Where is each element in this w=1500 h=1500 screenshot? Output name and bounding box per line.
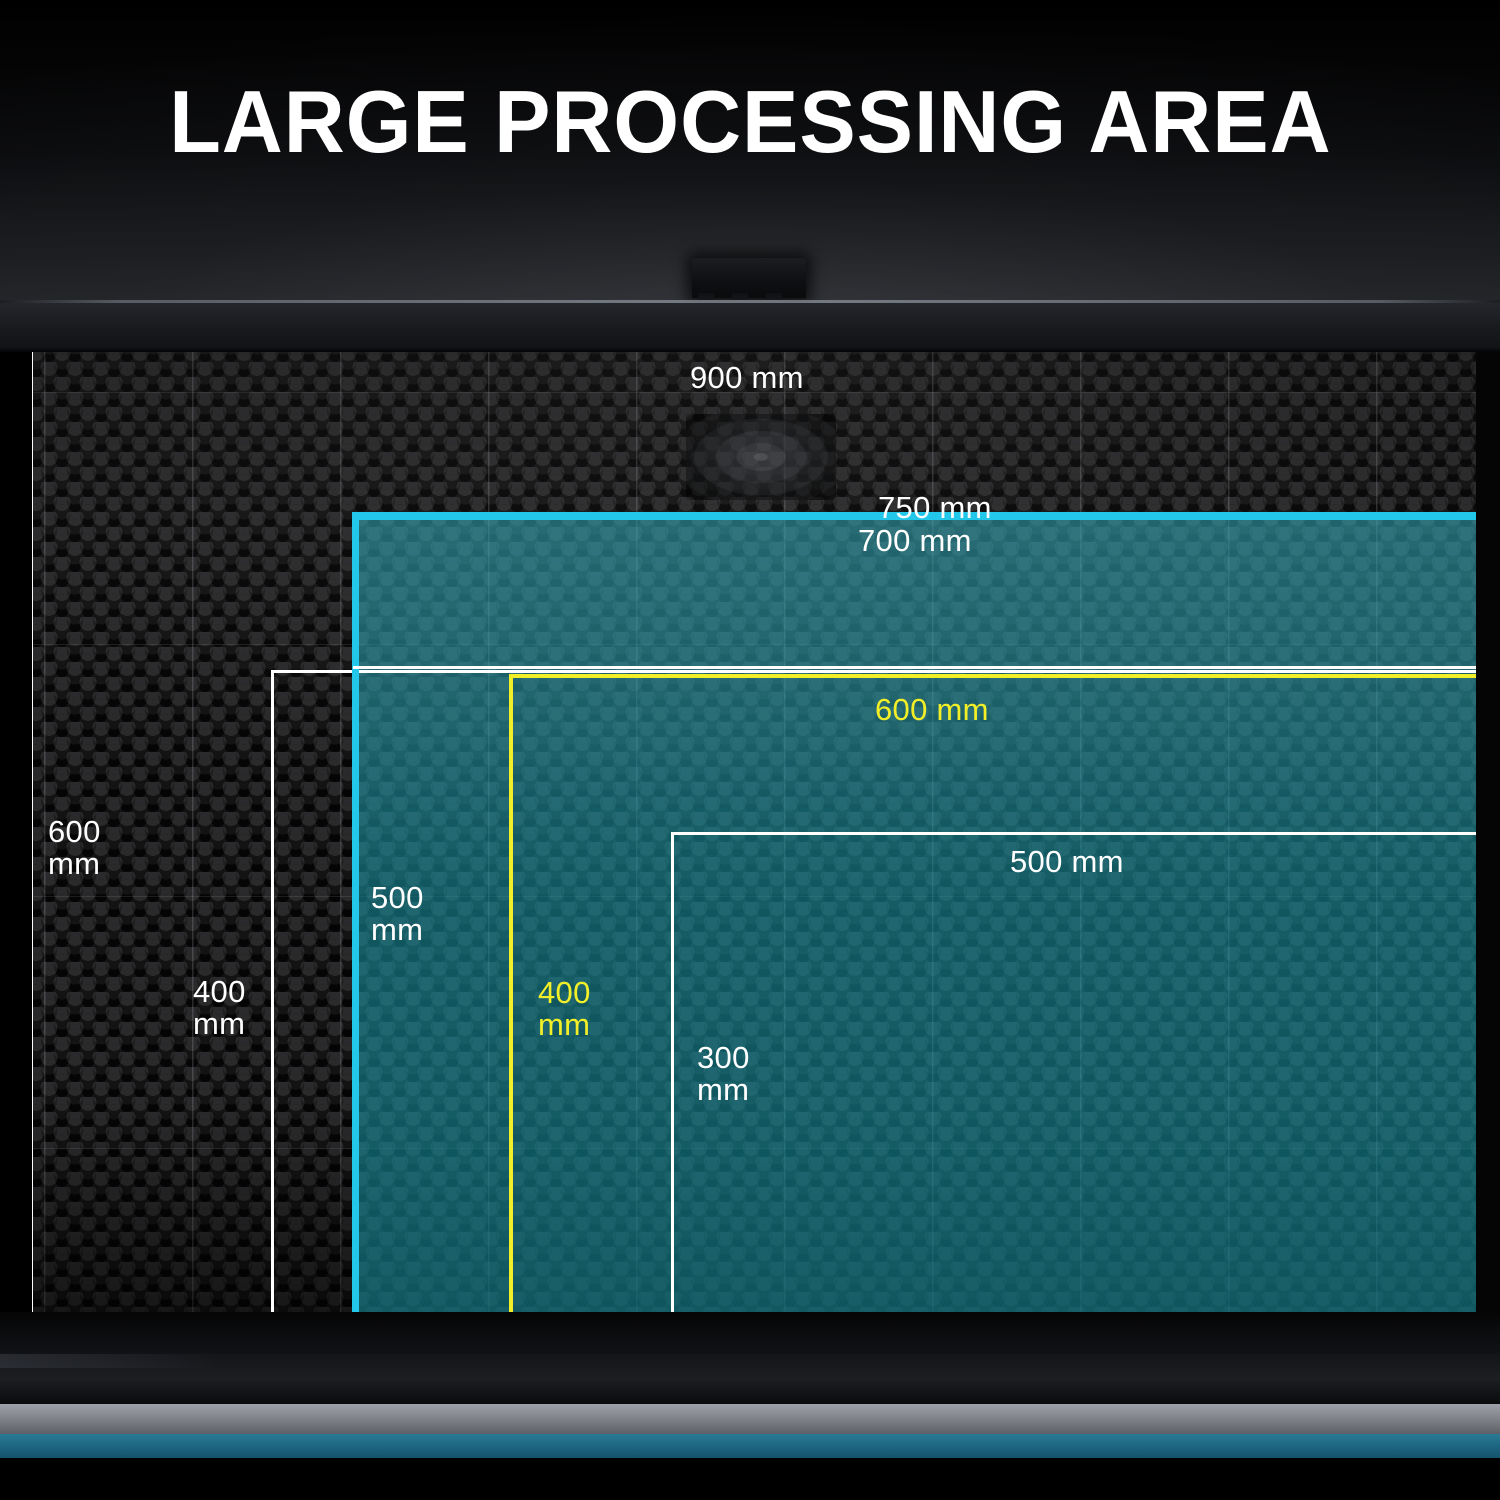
dimension-label-300mm: 300 mm (697, 1042, 750, 1105)
lid-underside-band (0, 303, 1500, 353)
base-bottom-black (0, 1458, 1500, 1500)
base-grey-band (0, 1404, 1500, 1434)
dimension-label-700mm: 700 mm (858, 525, 972, 557)
machine-base (0, 1312, 1500, 1500)
base-dark-band (0, 1354, 1500, 1404)
dimension-label-400mm-yellow: 400 mm (538, 977, 591, 1040)
bed-right-mask (1476, 352, 1500, 1312)
bed-left-mask (0, 352, 32, 1312)
dimension-label-600mm-top: 600 mm (875, 694, 989, 726)
guide-line-yellow-vertical (509, 674, 513, 1312)
dimension-label-500mm-left: 500 mm (371, 882, 424, 945)
gantry-bracket (692, 258, 806, 298)
processing-area-highlight (353, 512, 1476, 1312)
dimension-label-400mm-left: 400 mm (193, 976, 246, 1039)
guide-line-300mm-vertical (671, 832, 674, 1312)
product-feature-graphic: LARGE PROCESSING AREA 900 mm 700 mm 750 … (0, 0, 1500, 1500)
dimension-label-750mm: 750 mm (878, 492, 992, 524)
base-shadow-band (0, 1312, 1500, 1354)
base-teal-accent-band (0, 1434, 1500, 1458)
guide-line-400mm-vertical (271, 670, 274, 1312)
guide-line-yellow-horizontal (509, 674, 1476, 678)
dimension-label-900mm: 900 mm (690, 362, 804, 394)
guide-line-cyan-vertical (352, 512, 359, 1312)
page-title: LARGE PROCESSING AREA (0, 78, 1500, 166)
dimension-label-600mm-left: 600 mm (48, 816, 101, 879)
dimension-label-500mm-right: 500 mm (1010, 846, 1124, 878)
guide-line-500mm-horizontal (671, 832, 1476, 835)
guide-line-750mm-horizontal (353, 666, 1476, 669)
guide-line-750mm-horizontal-outer (271, 670, 1476, 673)
page-title-text: LARGE PROCESSING AREA (169, 78, 1331, 166)
